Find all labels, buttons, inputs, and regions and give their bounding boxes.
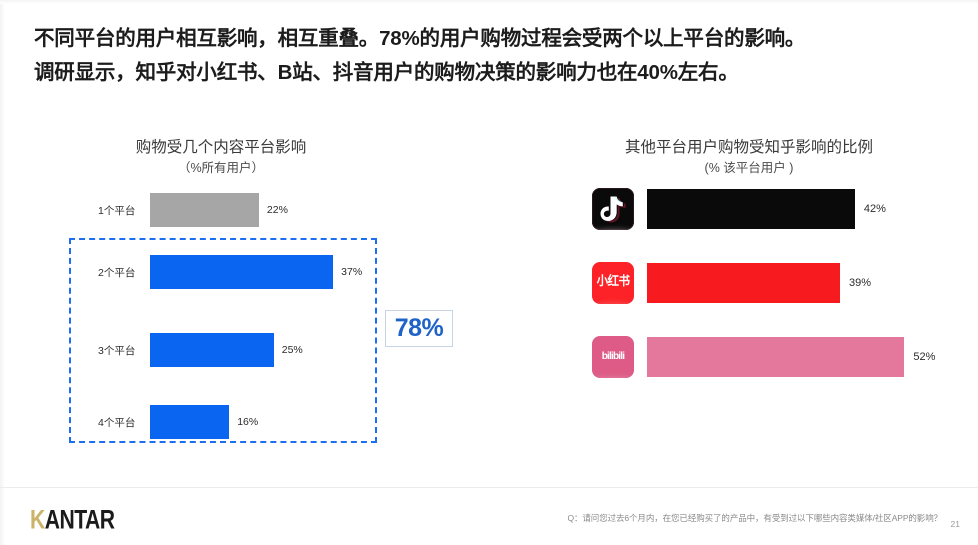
page-number: 21 — [951, 519, 960, 529]
logo-shadow — [592, 377, 634, 378]
headline-block: 不同平台的用户相互影响，相互重叠。78%的用户购物过程会受两个以上平台的影响。 … — [34, 22, 954, 90]
left-bar-track: 25% — [150, 333, 303, 367]
left-chart-panel: 购物受几个内容平台影响 （%所有用户） 78% 1个平台22%2个平台37%3个… — [60, 138, 500, 177]
headline-line-2: 调研显示，知乎对小红书、B站、抖音用户的购物决策的影响力也在40%左右。 — [34, 56, 954, 90]
bilibili-logo: bilibili — [592, 336, 634, 378]
badge-78-value: 78% — [395, 314, 444, 343]
right-bar-row: 42% — [592, 186, 886, 232]
left-bar-value-label: 25% — [282, 344, 303, 356]
left-bar-fill — [150, 405, 229, 439]
right-bar-value-label: 52% — [913, 351, 935, 363]
status-badge-78: 78% — [385, 310, 453, 347]
survey-question-footnote: Q：请问您过去6个月内，在您已经购买了的产品中，有受到过以下哪些内容类媒体/社区… — [567, 512, 942, 524]
right-chart-title: 其他平台用户购物受知乎影响的比例 — [560, 138, 960, 158]
right-chart-subtitle: (% 该平台用户 ) — [560, 159, 960, 177]
right-bar-fill — [647, 263, 840, 303]
left-bar-row: 4个平台16% — [98, 405, 258, 439]
right-bar-value-label: 39% — [849, 277, 871, 289]
right-bar-track: 52% — [647, 334, 935, 380]
right-chart-panel: 其他平台用户购物受知乎影响的比例 (% 该平台用户 ) 42%小红书39%bil… — [560, 138, 960, 177]
right-bar-row: 小红书39% — [592, 260, 871, 306]
left-bar-row: 1个平台22% — [98, 193, 288, 227]
left-bar-value-label: 22% — [267, 204, 288, 216]
left-bar-track: 37% — [150, 255, 362, 289]
left-bar-row: 2个平台37% — [98, 255, 362, 289]
left-bar-category-label: 2个平台 — [98, 265, 150, 280]
douyin-logo — [592, 188, 634, 230]
left-bar-value-label: 16% — [237, 416, 258, 428]
kantar-logo: KANTAR — [30, 506, 114, 533]
footer-divider — [0, 487, 978, 488]
left-bar-category-label: 1个平台 — [98, 203, 150, 218]
right-bar-value-label: 42% — [864, 203, 886, 215]
left-bar-category-label: 4个平台 — [98, 415, 150, 430]
left-bar-category-label: 3个平台 — [98, 343, 150, 358]
right-bar-fill — [647, 337, 904, 377]
kantar-logo-k: K — [30, 504, 45, 535]
right-bar-fill — [647, 189, 855, 229]
left-bar-track: 16% — [150, 405, 258, 439]
left-chart-title: 购物受几个内容平台影响 — [60, 138, 500, 158]
left-edge-strip — [0, 0, 5, 545]
left-chart-subtitle: （%所有用户） — [60, 159, 500, 177]
left-bar-track: 22% — [150, 193, 288, 227]
right-bar-track: 39% — [647, 260, 871, 306]
slide-canvas: 不同平台的用户相互影响，相互重叠。78%的用户购物过程会受两个以上平台的影响。 … — [0, 0, 978, 545]
left-bar-fill — [150, 333, 274, 367]
top-edge-strip — [0, 0, 978, 4]
bilibili-logo-text: bilibili — [602, 352, 625, 362]
right-bar-track: 42% — [647, 186, 886, 232]
xiaohongshu-logo: 小红书 — [592, 262, 634, 304]
kantar-logo-rest: ANTAR — [45, 504, 115, 535]
right-bar-row: bilibili52% — [592, 334, 935, 380]
logo-shadow — [592, 303, 634, 304]
left-bar-value-label: 37% — [341, 266, 362, 278]
left-bar-row: 3个平台25% — [98, 333, 303, 367]
left-bar-fill — [150, 255, 333, 289]
douyin-note-glyph — [592, 188, 634, 230]
headline-line-1: 不同平台的用户相互影响，相互重叠。78%的用户购物过程会受两个以上平台的影响。 — [34, 22, 954, 56]
left-bar-fill — [150, 193, 259, 227]
xiaohongshu-logo-text: 小红书 — [597, 277, 630, 289]
